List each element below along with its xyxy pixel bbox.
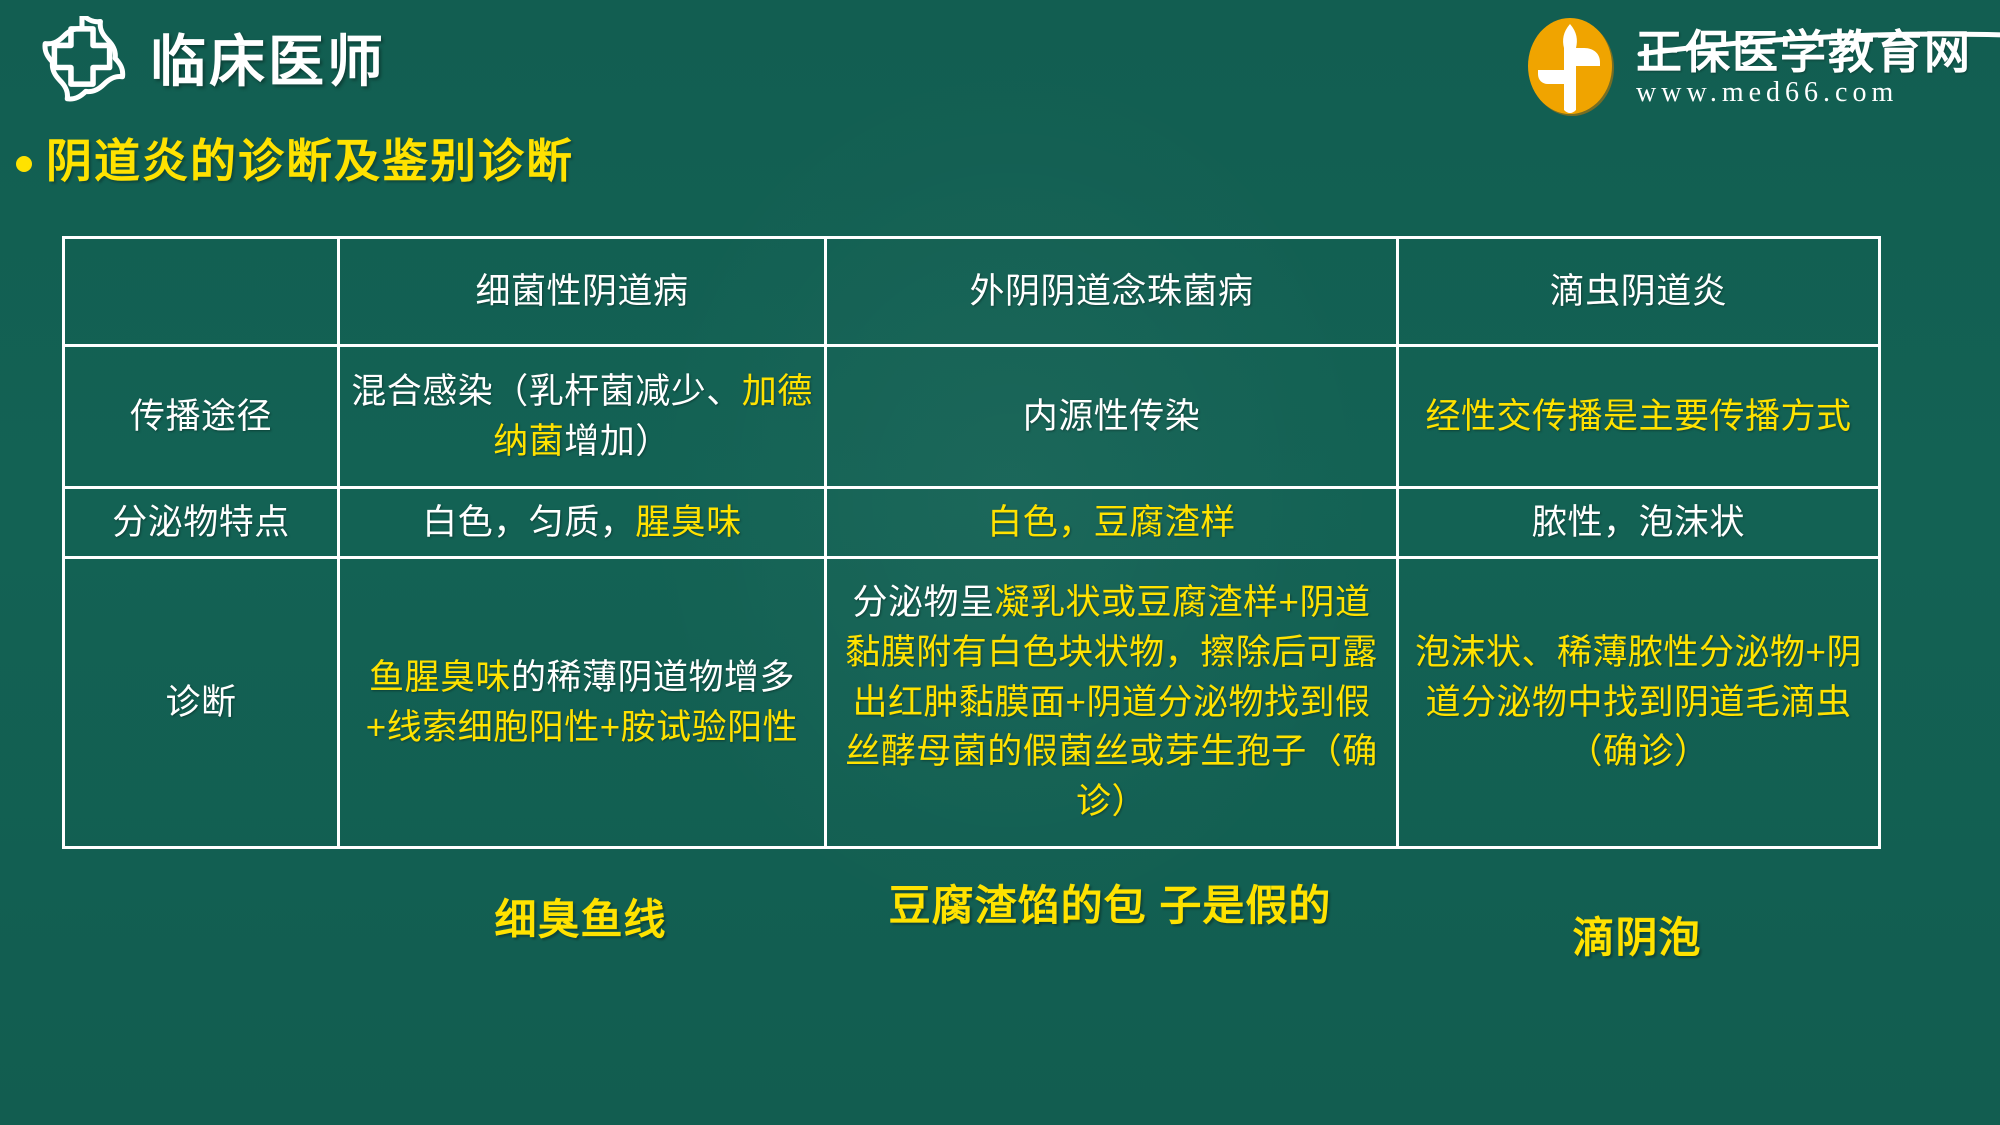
header-cell-blank bbox=[64, 238, 339, 346]
slide-header: 临床医师 正保医学教育网 www.med66.com bbox=[0, 0, 2000, 128]
text-run: 经性交传播是主要传播方式 bbox=[1425, 397, 1851, 436]
table-header-row: 细菌性阴道病 外阴阴道念珠菌病 滴虫阴道炎 bbox=[64, 238, 1880, 346]
page-title: 阴道炎的诊断及鉴别诊断 bbox=[46, 136, 574, 187]
rich-runs: 泡沫状、稀薄脓性分泌物+阴道分泌物中找到阴道毛滴虫（确诊） bbox=[1415, 633, 1862, 771]
rich-runs: 鱼腥臭味的稀薄阴道物增多+线索细胞阳性+胺试验阳性 bbox=[366, 658, 798, 747]
header-cell-vvc: 外阴阴道念珠菌病 bbox=[826, 238, 1398, 346]
text-run: 脓性，泡沫状 bbox=[1532, 503, 1745, 542]
brand-title: 临床医师 bbox=[150, 34, 386, 90]
row-label-transmission: 传播途径 bbox=[64, 346, 339, 488]
table-row: 传播途径 混合感染（乳杆菌减少、加德纳菌增加） 内源性传染 经性交传播是主要传播… bbox=[64, 346, 1880, 488]
mnemonics-row: 细臭鱼线 豆腐渣馅的包 子是假的 滴阴泡 bbox=[62, 890, 1878, 1040]
vaginitis-comparison-table: 细菌性阴道病 外阴阴道念珠菌病 滴虫阴道炎 传播途径 混合感染（乳杆菌减少、加德… bbox=[62, 236, 1881, 849]
cell-discharge-bv: 白色，匀质，腥臭味 bbox=[339, 488, 826, 558]
row-label-diagnosis: 诊断 bbox=[64, 558, 339, 848]
rich-runs: 经性交传播是主要传播方式 bbox=[1425, 397, 1851, 436]
text-run: +线索细胞阳性+胺试验阳性 bbox=[366, 708, 798, 747]
text-run: 内源性传染 bbox=[1023, 397, 1201, 436]
text-run: 的稀薄阴道物增多 bbox=[511, 658, 795, 697]
rich-runs: 分泌物呈凝乳状或豆腐渣样+阴道黏膜附有白色块状物，擦除后可露出红肿黏膜面+阴道分… bbox=[845, 583, 1378, 821]
cell-transmission-vvc: 内源性传染 bbox=[826, 346, 1398, 488]
cell-discharge-tv: 脓性，泡沫状 bbox=[1398, 488, 1880, 558]
cell-diagnosis-tv: 泡沫状、稀薄脓性分泌物+阴道分泌物中找到阴道毛滴虫（确诊） bbox=[1398, 558, 1880, 848]
text-run: 泡沫状、稀薄脓性分泌物+ bbox=[1415, 633, 1826, 672]
cell-diagnosis-bv: 鱼腥臭味的稀薄阴道物增多+线索细胞阳性+胺试验阳性 bbox=[339, 558, 826, 848]
text-run: 凝乳状或豆腐渣样 bbox=[995, 583, 1279, 622]
medical-cross-icon bbox=[36, 16, 128, 108]
table-row: 诊断 鱼腥臭味的稀薄阴道物增多+线索细胞阳性+胺试验阳性 分泌物呈凝乳状或豆腐渣… bbox=[64, 558, 1880, 848]
table-row: 分泌物特点 白色，匀质，腥臭味 白色，豆腐渣样 脓性，泡沫状 bbox=[64, 488, 1880, 558]
mnemonic-vvc: 豆腐渣馅的包 子是假的 bbox=[824, 880, 1396, 933]
header-cell-bv: 细菌性阴道病 bbox=[339, 238, 826, 346]
text-run: 分泌物呈 bbox=[853, 583, 995, 622]
text-run: 鱼腥臭味 bbox=[369, 658, 511, 697]
cell-discharge-vvc: 白色，豆腐渣样 bbox=[826, 488, 1398, 558]
mnemonic-tv: 滴阴泡 bbox=[1396, 912, 1878, 965]
rich-runs: 脓性，泡沫状 bbox=[1532, 503, 1745, 542]
slide-canvas: 临床医师 正保医学教育网 www.med66.com 阴道炎的诊断及鉴别诊断 bbox=[0, 0, 2000, 1125]
text-run: 腥臭味 bbox=[635, 503, 742, 542]
rich-runs: 白色，豆腐渣样 bbox=[987, 503, 1236, 542]
text-run: 白色，匀质， bbox=[422, 503, 635, 542]
cell-transmission-bv: 混合感染（乳杆菌减少、加德纳菌增加） bbox=[339, 346, 826, 488]
rich-runs: 混合感染（乳杆菌减少、加德纳菌增加） bbox=[351, 372, 813, 461]
text-run: 增加） bbox=[564, 422, 671, 461]
rich-runs: 内源性传染 bbox=[1023, 397, 1201, 436]
slide-title-bullet: 阴道炎的诊断及鉴别诊断 bbox=[16, 136, 574, 187]
header-cell-tv: 滴虫阴道炎 bbox=[1398, 238, 1880, 346]
corp-logo: 正保医学教育网 www.med66.com bbox=[1524, 14, 1972, 123]
text-run: 白色，豆腐渣样 bbox=[987, 503, 1236, 542]
comparison-table-wrap: 细菌性阴道病 外阴阴道念珠菌病 滴虫阴道炎 传播途径 混合感染（乳杆菌减少、加德… bbox=[62, 236, 1878, 849]
brand-block: 临床医师 bbox=[36, 16, 386, 108]
corp-arc-decoration bbox=[1636, 24, 2000, 60]
rich-runs: 白色，匀质，腥臭味 bbox=[422, 503, 742, 542]
cell-diagnosis-vvc: 分泌物呈凝乳状或豆腐渣样+阴道黏膜附有白色块状物，擦除后可露出红肿黏膜面+阴道分… bbox=[826, 558, 1398, 848]
bullet-dot-icon bbox=[16, 156, 32, 172]
row-label-discharge: 分泌物特点 bbox=[64, 488, 339, 558]
text-run: 混合感染（乳杆菌减少、 bbox=[351, 372, 742, 411]
cell-transmission-tv: 经性交传播是主要传播方式 bbox=[1398, 346, 1880, 488]
mnemonic-bv: 细臭鱼线 bbox=[337, 894, 824, 947]
corp-url: www.med66.com bbox=[1636, 78, 1972, 109]
oval-cross-logo-icon bbox=[1524, 14, 1620, 123]
